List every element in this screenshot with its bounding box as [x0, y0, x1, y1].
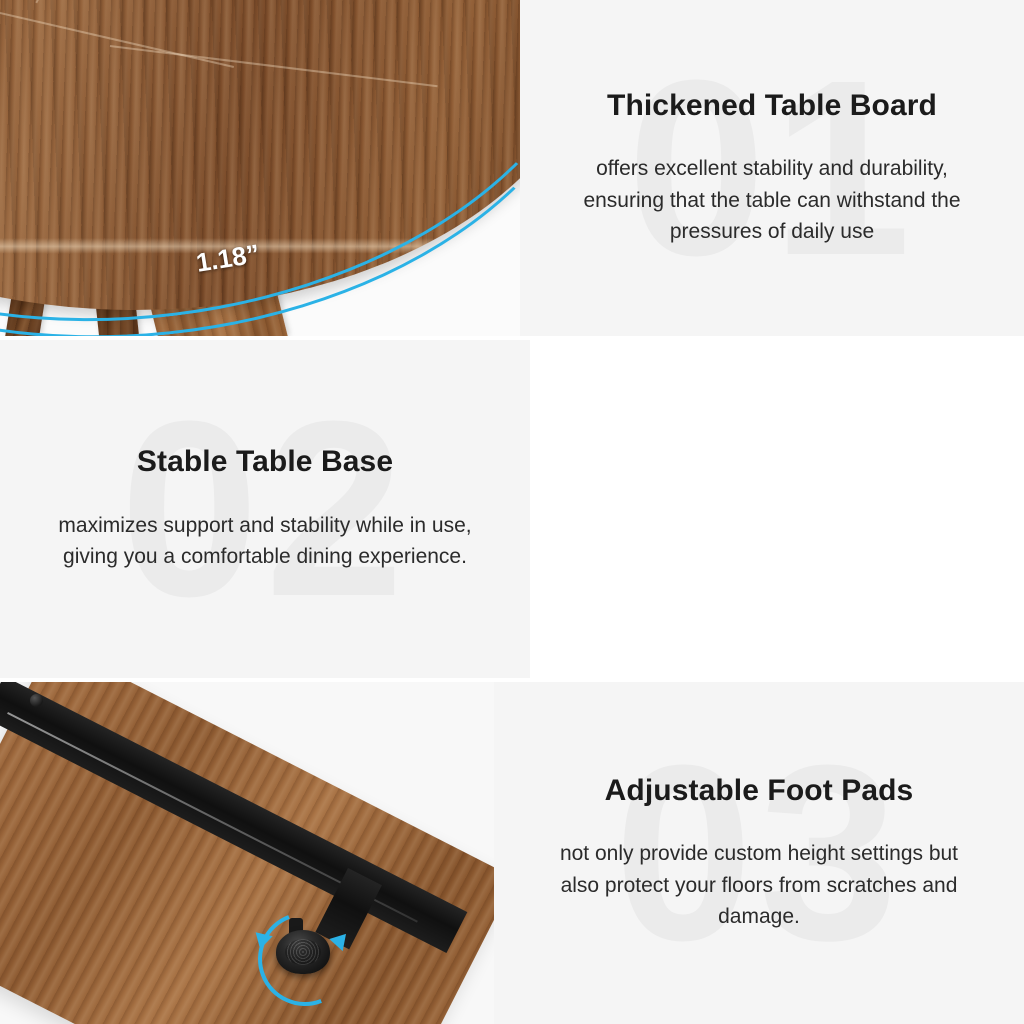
feature-03-image	[0, 682, 494, 1024]
feature-02-title: Stable Table Base	[18, 445, 512, 480]
feature-03-description: not only provide custom height settings …	[547, 838, 971, 933]
feature-03-title: Adjustable Foot Pads	[512, 774, 1006, 809]
feature-03-text-panel: 03 Adjustable Foot Pads not only provide…	[494, 682, 1024, 1024]
feature-01-text-panel: 01 Thickened Table Board offers excellen…	[520, 0, 1024, 336]
feature-01-image: 1.18”	[0, 0, 520, 336]
feature-row-02: 02 Stable Table Base maximizes support a…	[0, 340, 1024, 678]
feature-row-03: 03 Adjustable Foot Pads not only provide…	[0, 682, 1024, 1024]
product-feature-infographic: 1.18” 01 Thickened Table Board offers ex…	[0, 0, 1024, 1024]
screw-icon	[30, 694, 43, 707]
feature-01-title: Thickened Table Board	[538, 89, 1006, 124]
feature-02-text-panel: 02 Stable Table Base maximizes support a…	[0, 340, 530, 678]
feature-row-01: 1.18” 01 Thickened Table Board offers ex…	[0, 0, 1024, 336]
feature-01-description: offers excellent stability and durabilit…	[557, 153, 987, 248]
feature-02-description: maximizes support and stability while in…	[39, 510, 491, 573]
